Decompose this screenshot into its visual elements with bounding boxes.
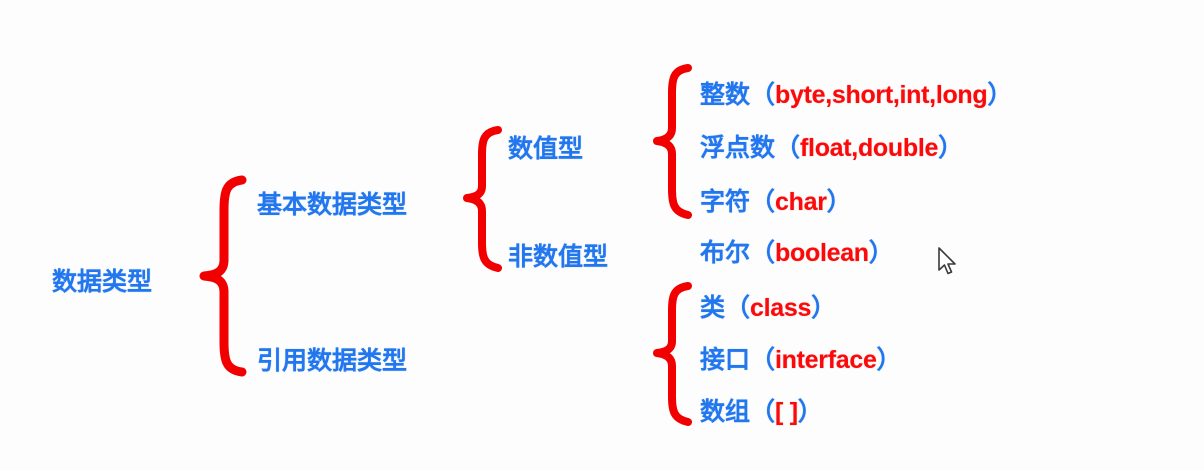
node-numeric-type: 数值型 bbox=[508, 129, 583, 165]
leaf-integer-types: byte,short,int,long bbox=[775, 81, 987, 109]
leaf-array-open-paren: （ bbox=[750, 398, 775, 426]
leaf-integer-label: 整数 bbox=[700, 80, 750, 109]
leaf-char-close-paren: ） bbox=[827, 188, 852, 216]
leaf-array-label: 数组 bbox=[700, 397, 750, 426]
leaf-char-open-paren: （ bbox=[750, 188, 775, 216]
leaf-char-label: 字符 bbox=[700, 187, 750, 216]
leaf-float-types: float,double bbox=[800, 134, 938, 162]
leaf-boolean-open-paren: （ bbox=[750, 239, 775, 267]
leaf-interface-types: interface bbox=[775, 346, 877, 374]
leaf-boolean: 布尔（boolean） bbox=[700, 233, 894, 269]
leaf-char: 字符（char） bbox=[700, 182, 852, 218]
diagram-canvas: 数据类型 基本数据类型 引用数据类型 数值型 非数值型 整数（byte,shor… bbox=[0, 0, 1204, 470]
leaf-float: 浮点数（float,double） bbox=[700, 128, 963, 164]
leaf-integer-close-paren: ） bbox=[987, 81, 1012, 109]
leaf-boolean-types: boolean bbox=[775, 239, 869, 267]
node-non-numeric-type: 非数值型 bbox=[508, 237, 608, 273]
leaf-class-close-paren: ） bbox=[811, 294, 836, 322]
leaf-float-open-paren: （ bbox=[775, 134, 800, 162]
leaf-array: 数组（[ ]） bbox=[700, 392, 823, 428]
node-root-data-type: 数据类型 bbox=[52, 262, 152, 298]
brace-reference bbox=[652, 282, 696, 426]
brace-primitive bbox=[462, 126, 506, 272]
brace-root bbox=[198, 176, 254, 376]
leaf-class-open-paren: （ bbox=[725, 294, 750, 322]
leaf-interface-open-paren: （ bbox=[750, 346, 775, 374]
leaf-class: 类（class） bbox=[700, 288, 836, 324]
leaf-class-types: class bbox=[750, 294, 811, 322]
leaf-integer: 整数（byte,short,int,long） bbox=[700, 75, 1012, 111]
leaf-float-close-paren: ） bbox=[938, 134, 963, 162]
node-reference-data-type: 引用数据类型 bbox=[257, 341, 407, 377]
leaf-class-label: 类 bbox=[700, 293, 725, 322]
leaf-interface: 接口（interface） bbox=[700, 340, 902, 376]
leaf-array-close-paren: ） bbox=[798, 398, 823, 426]
leaf-interface-label: 接口 bbox=[700, 345, 750, 374]
leaf-float-label: 浮点数 bbox=[700, 133, 775, 162]
leaf-interface-close-paren: ） bbox=[877, 346, 902, 374]
brace-numeric bbox=[652, 64, 696, 220]
leaf-array-types: [ ] bbox=[775, 398, 798, 426]
node-primitive-data-type: 基本数据类型 bbox=[257, 185, 407, 221]
leaf-boolean-close-paren: ） bbox=[869, 239, 894, 267]
leaf-char-types: char bbox=[775, 188, 827, 216]
leaf-integer-open-paren: （ bbox=[750, 81, 775, 109]
leaf-boolean-label: 布尔 bbox=[700, 238, 750, 267]
mouse-cursor-arrow-icon bbox=[937, 247, 959, 279]
